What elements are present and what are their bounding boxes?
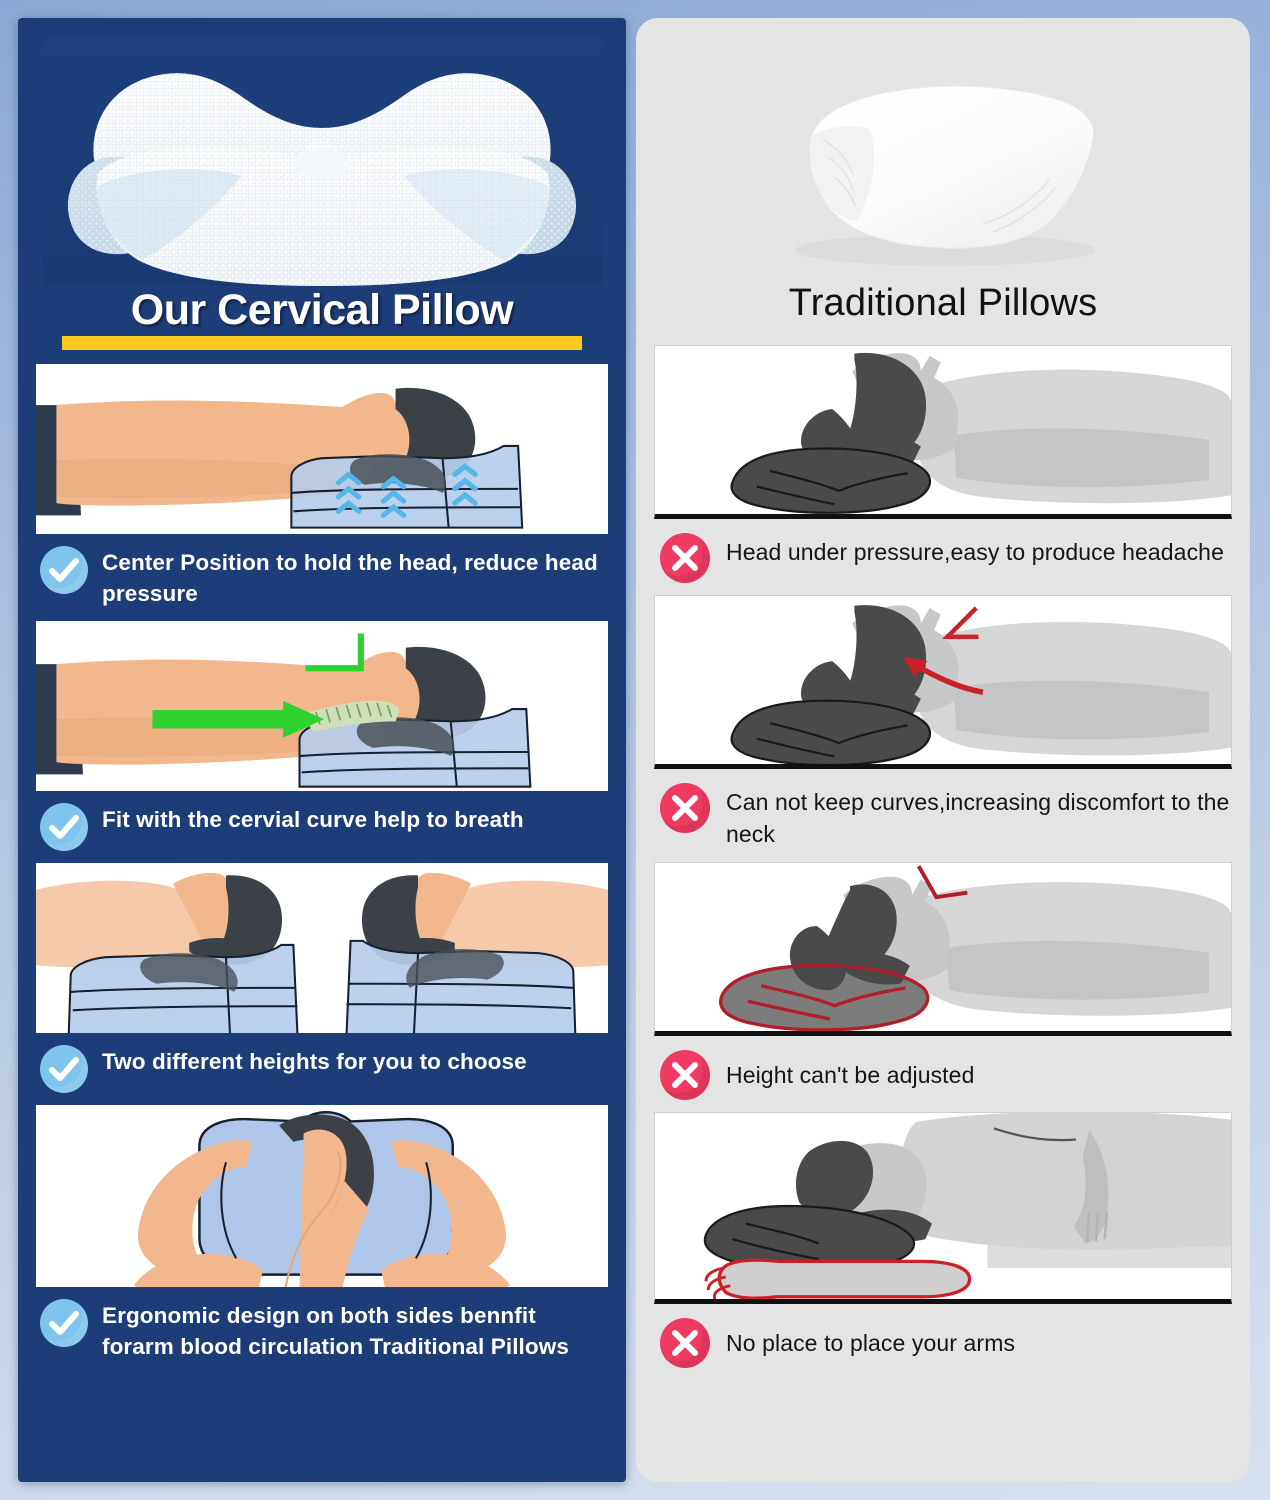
- illustration-no-arm-placement: [654, 1112, 1232, 1304]
- drawback-row: Can not keep curves,increasing discomfor…: [660, 783, 1232, 850]
- comparison-board: Our Cervical Pillow: [0, 0, 1270, 1500]
- check-icon: [40, 546, 88, 594]
- drawback-row: Head under pressure,easy to produce head…: [660, 533, 1232, 583]
- feature-text: Ergonomic design on both sides bennfit f…: [102, 1299, 608, 1362]
- cross-icon: [660, 783, 710, 833]
- drawback-row: No place to place your arms: [660, 1318, 1232, 1368]
- drawback-text: No place to place your arms: [726, 1318, 1015, 1360]
- feature-row: Fit with the cervial curve help to breat…: [40, 803, 608, 851]
- right-panel-title: Traditional Pillows: [654, 282, 1232, 325]
- cross-icon: [660, 533, 710, 583]
- illustration-two-pillow-heights: [36, 863, 608, 1033]
- check-icon: [40, 1299, 88, 1347]
- drawback-text: Height can't be adjusted: [726, 1050, 974, 1092]
- traditional-pillow-hero: [654, 32, 1232, 280]
- traditional-white-pillow-photo: [683, 36, 1203, 276]
- traditional-pillows-panel: Traditional Pillows: [636, 18, 1250, 1482]
- feature-text: Fit with the cervial curve help to breat…: [102, 803, 524, 835]
- illustration-no-neck-curve-support: [654, 595, 1232, 769]
- feature-row: Two different heights for you to choose: [40, 1045, 608, 1093]
- illustration-flattened-pillow-height: [654, 862, 1232, 1036]
- drawback-row: Height can't be adjusted: [660, 1050, 1232, 1100]
- illustration-arm-rest-wings-top-view: [36, 1105, 608, 1287]
- cervical-pillow-hero: [36, 30, 608, 292]
- illustration-cervical-curve-alignment: [36, 621, 608, 791]
- left-title-block: Our Cervical Pillow: [36, 288, 608, 350]
- drawback-text: Can not keep curves,increasing discomfor…: [726, 783, 1232, 850]
- left-panel-title: Our Cervical Pillow: [131, 288, 513, 333]
- feature-row: Center Position to hold the head, reduce…: [40, 546, 608, 609]
- check-icon: [40, 1045, 88, 1093]
- drawback-text: Head under pressure,easy to produce head…: [726, 533, 1224, 569]
- feature-text: Two different heights for you to choose: [102, 1045, 527, 1077]
- feature-row: Ergonomic design on both sides bennfit f…: [40, 1299, 608, 1362]
- illustration-back-sleeper-center-support: [36, 364, 608, 534]
- cross-icon: [660, 1318, 710, 1368]
- illustration-head-under-pressure: [654, 345, 1232, 519]
- cross-icon: [660, 1050, 710, 1100]
- cervical-memory-foam-pillow-photo: [42, 36, 602, 286]
- check-icon: [40, 803, 88, 851]
- our-cervical-pillow-panel: Our Cervical Pillow: [18, 18, 626, 1482]
- feature-text: Center Position to hold the head, reduce…: [102, 546, 608, 609]
- title-underline-bar: [62, 336, 582, 350]
